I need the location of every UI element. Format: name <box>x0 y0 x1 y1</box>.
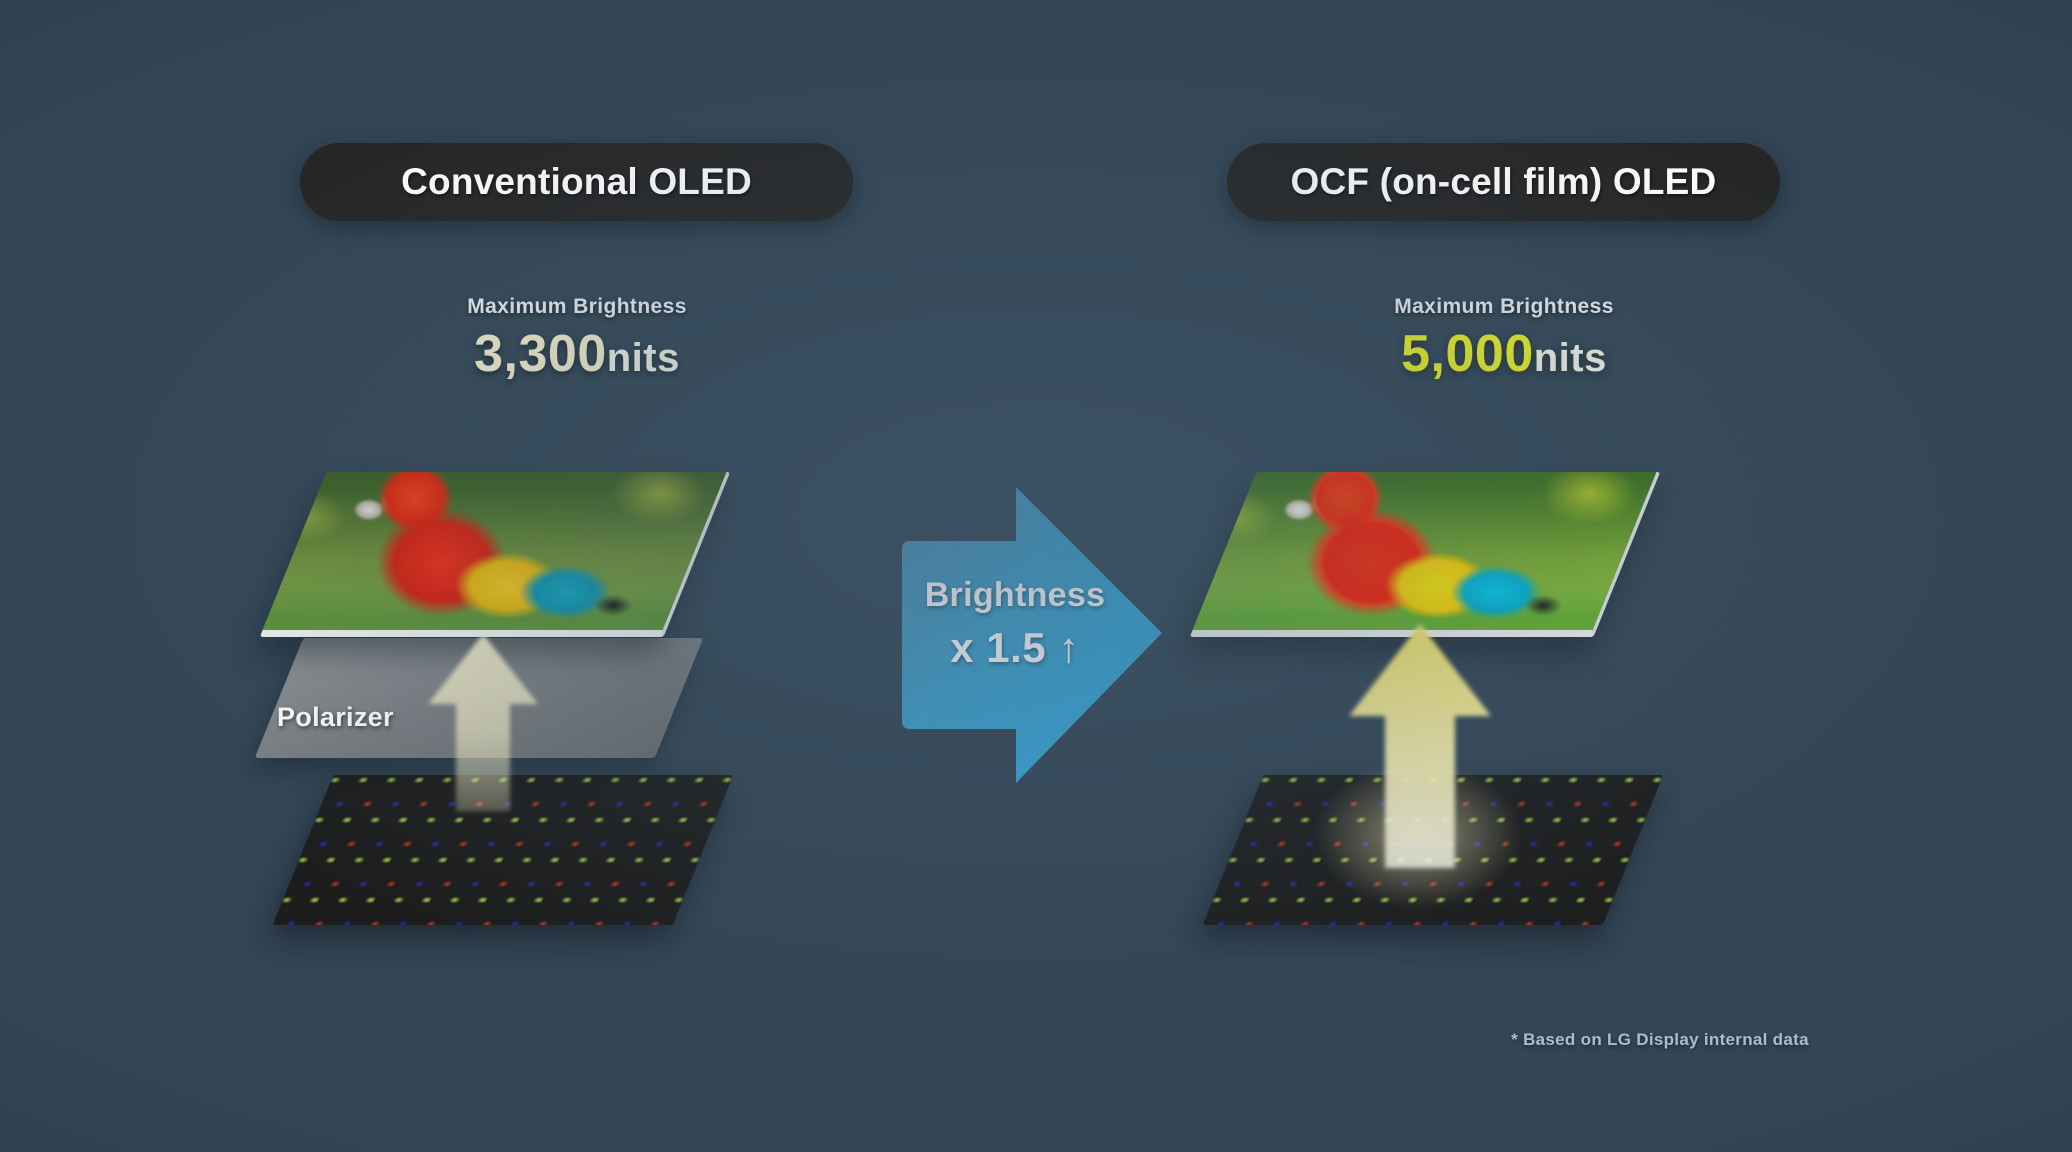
panel-title-left: Conventional OLED <box>401 161 752 203</box>
metric-block-left: Maximum Brightness 3,300nits <box>297 295 857 382</box>
layer-stack-conventional: Polarizer <box>255 430 855 970</box>
panel-title-right: OCF (on-cell film) OLED <box>1291 161 1717 203</box>
layer-stack-ocf <box>1185 430 1785 970</box>
display-panel-right <box>1190 472 1661 637</box>
display-panel-left <box>260 472 731 637</box>
metric-number-left: 3,300 <box>474 325 607 383</box>
panel-title-pill-right: OCF (on-cell film) OLED <box>1227 143 1780 221</box>
metric-caption-right: Maximum Brightness <box>1224 295 1784 319</box>
polarizer-label: Polarizer <box>277 702 394 733</box>
metric-unit-right: nits <box>1534 336 1607 380</box>
right-arrow-icon <box>898 483 1166 793</box>
light-emission-arrow-left <box>398 630 568 815</box>
parrot-image-right <box>1190 472 1661 637</box>
footnote-text: * Based on LG Display internal data <box>1450 1030 1870 1050</box>
metric-block-right: Maximum Brightness 5,000nits <box>1224 295 1784 382</box>
brightness-comparison-arrow: Brightness x 1.5 ↑ <box>898 483 1166 793</box>
metric-caption-left: Maximum Brightness <box>297 295 857 319</box>
infographic-canvas: Conventional OLED OCF (on-cell film) OLE… <box>0 0 2072 1152</box>
parrot-image-left <box>260 472 731 637</box>
metric-unit-left: nits <box>607 336 680 380</box>
metric-number-right: 5,000 <box>1401 325 1534 383</box>
light-emission-arrow-right <box>1313 620 1527 872</box>
panel-title-pill-left: Conventional OLED <box>300 143 853 221</box>
metric-value-right: 5,000nits <box>1224 327 1784 382</box>
metric-value-left: 3,300nits <box>297 327 857 382</box>
